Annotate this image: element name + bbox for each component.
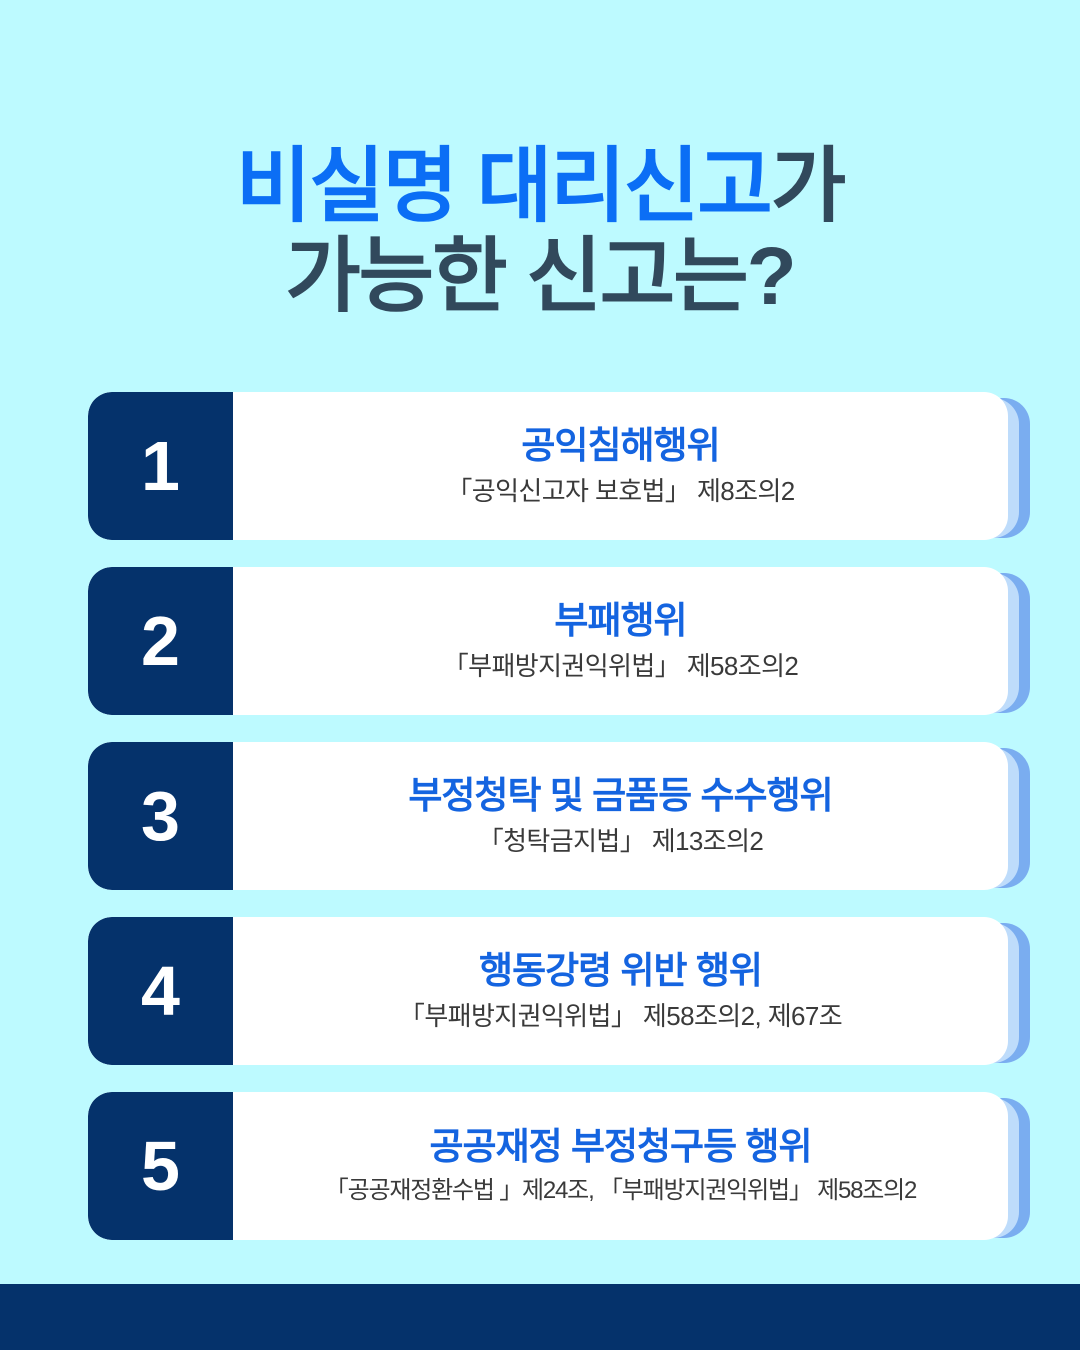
page-title: 비실명 대리신고가 가능한 신고는? [0, 146, 1080, 318]
item-number-badge: 4 [88, 917, 233, 1065]
item-heading: 부패행위 [554, 600, 686, 643]
list-item[interactable]: 1 공익침해행위 「공익신고자 보호법」 제8조의2 [88, 392, 1008, 540]
item-law-reference: 「부패방지권익위법」 제58조의2, 제67조 [399, 1001, 842, 1032]
item-number-badge: 5 [88, 1092, 233, 1240]
title-segment-blue: 비실명 대리신고 [236, 141, 771, 232]
list-item[interactable]: 2 부패행위 「부패방지권익위법」 제58조의2 [88, 567, 1008, 715]
item-content: 공익침해행위 「공익신고자 보호법」 제8조의2 [233, 392, 1008, 540]
poster-canvas: 비실명 대리신고가 가능한 신고는? 1 공익침해행위 「공익신고자 보호법」 … [0, 0, 1080, 1350]
item-law-reference: 「청탁금지법」 제13조의2 [478, 826, 764, 857]
item-heading: 공공재정 부정청구등 행위 [430, 1126, 812, 1169]
list-item-card[interactable]: 5 공공재정 부정청구등 행위 「공공재정환수법 」제24조, 「부패방지권익위… [88, 1092, 1008, 1240]
item-number-badge: 3 [88, 742, 233, 890]
list-item-card[interactable]: 4 행동강령 위반 행위 「부패방지권익위법」 제58조의2, 제67조 [88, 917, 1008, 1065]
item-content: 부정청탁 및 금품등 수수행위 「청탁금지법」 제13조의2 [233, 742, 1008, 890]
list-item-card[interactable]: 3 부정청탁 및 금품등 수수행위 「청탁금지법」 제13조의2 [88, 742, 1008, 890]
item-law-reference: 「부패방지권익위법」 제58조의2 [443, 651, 799, 682]
footer-bar [0, 1284, 1080, 1350]
item-heading: 공익침해행위 [521, 425, 719, 468]
item-content: 행동강령 위반 행위 「부패방지권익위법」 제58조의2, 제67조 [233, 917, 1008, 1065]
title-line-1: 비실명 대리신고가 [0, 146, 1080, 228]
item-content: 부패행위 「부패방지권익위법」 제58조의2 [233, 567, 1008, 715]
item-number-badge: 1 [88, 392, 233, 540]
item-number-badge: 2 [88, 567, 233, 715]
list-item[interactable]: 5 공공재정 부정청구등 행위 「공공재정환수법 」제24조, 「부패방지권익위… [88, 1092, 1008, 1240]
item-law-reference: 「공익신고자 보호법」 제8조의2 [446, 476, 794, 507]
item-heading: 부정청탁 및 금품등 수수행위 [408, 775, 832, 818]
item-heading: 행동강령 위반 행위 [479, 950, 762, 993]
title-line-2: 가능한 신고는? [0, 236, 1080, 318]
item-content: 공공재정 부정청구등 행위 「공공재정환수법 」제24조, 「부패방지권익위법」… [233, 1092, 1008, 1240]
item-law-reference: 「공공재정환수법 」제24조, 「부패방지권익위법」 제58조의2 [325, 1177, 916, 1206]
list-item-card[interactable]: 1 공익침해행위 「공익신고자 보호법」 제8조의2 [88, 392, 1008, 540]
report-type-list: 1 공익침해행위 「공익신고자 보호법」 제8조의2 2 부패행위 「부패방지권… [88, 392, 1008, 1267]
title-segment-dark: 가 [771, 141, 844, 232]
list-item[interactable]: 3 부정청탁 및 금품등 수수행위 「청탁금지법」 제13조의2 [88, 742, 1008, 890]
list-item-card[interactable]: 2 부패행위 「부패방지권익위법」 제58조의2 [88, 567, 1008, 715]
list-item[interactable]: 4 행동강령 위반 행위 「부패방지권익위법」 제58조의2, 제67조 [88, 917, 1008, 1065]
